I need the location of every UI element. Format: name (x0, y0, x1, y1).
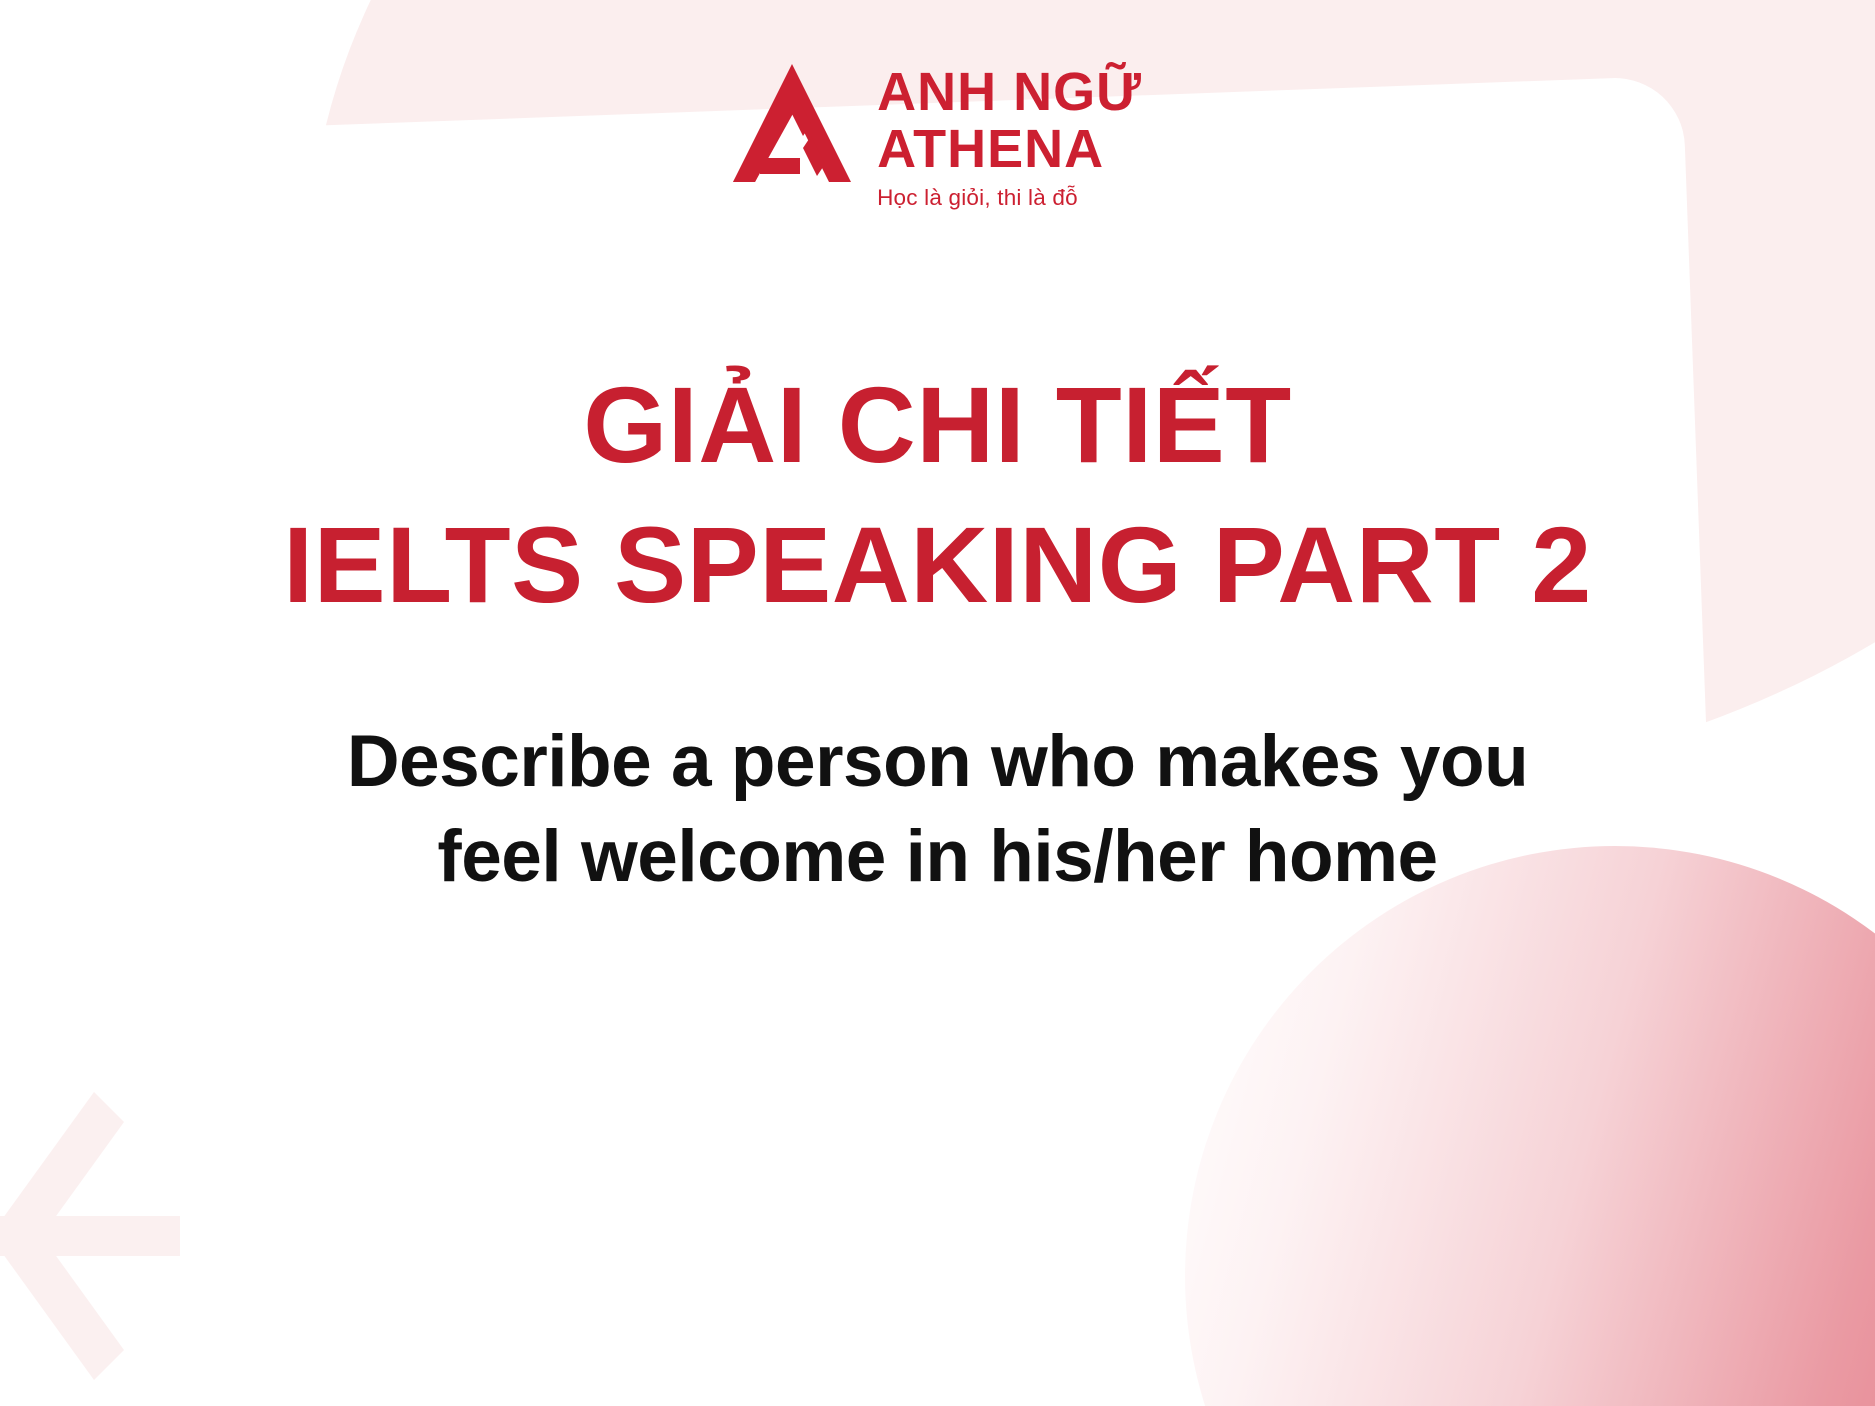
poster-canvas: ANH NGỮ ATHENA Học là giỏi, thi là đỗ GI… (0, 0, 1875, 1406)
headline-block: GIẢI CHI TIẾT IELTS SPEAKING PART 2 (0, 355, 1875, 636)
subtitle-line-1: Describe a person who makes you (0, 715, 1875, 810)
subtitle-block: Describe a person who makes you feel wel… (0, 715, 1875, 905)
athena-mountain-a-logo-icon (733, 62, 851, 182)
headline-line-2: IELTS SPEAKING PART 2 (0, 495, 1875, 635)
brand-logo-lockup: ANH NGỮ ATHENA Học là giỏi, thi là đỗ (0, 62, 1875, 211)
brand-wordmark: ANH NGỮ ATHENA Học là giỏi, thi là đỗ (877, 62, 1142, 211)
headline-line-1: GIẢI CHI TIẾT (0, 355, 1875, 495)
brand-name-line2: ATHENA (877, 123, 1142, 176)
brand-tagline: Học là giỏi, thi là đỗ (877, 185, 1142, 211)
poster-content: ANH NGỮ ATHENA Học là giỏi, thi là đỗ GI… (0, 0, 1875, 1406)
brand-name-line1: ANH NGỮ (877, 66, 1142, 119)
subtitle-line-2: feel welcome in his/her home (0, 810, 1875, 905)
